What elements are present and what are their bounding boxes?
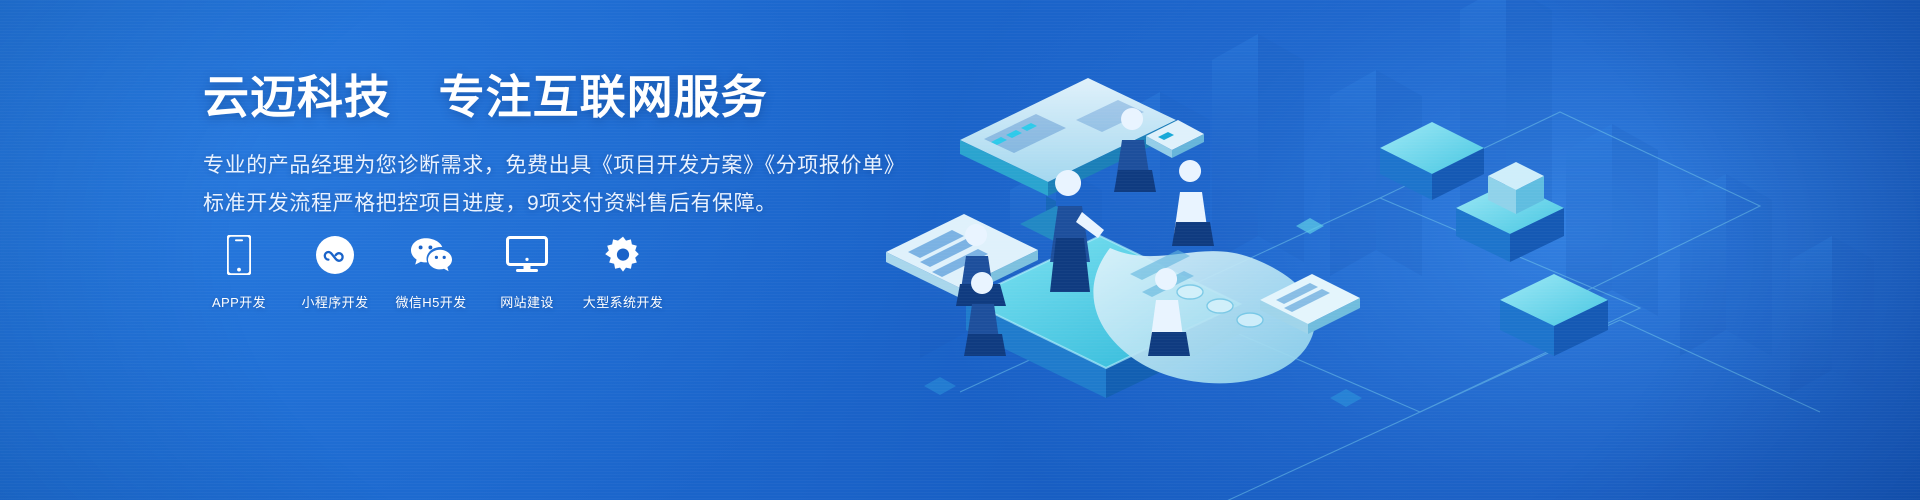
promo-banner: 云迈科技 专注互联网服务 专业的产品经理为您诊断需求，免费出具《项目开发方案》《…	[0, 0, 1920, 500]
headline-tagline: 专注互联网服务	[439, 71, 768, 123]
subtitle-line-1: 专业的产品经理为您诊断需求，免费出具《项目开发方案》《分项报价单》	[203, 148, 923, 183]
service-item-app[interactable]: APP开发	[203, 232, 275, 311]
monitor-icon	[506, 232, 548, 278]
service-label: APP开发	[212, 292, 266, 311]
service-item-large-system[interactable]: 大型系统开发	[587, 232, 659, 311]
mobile-phone-icon	[227, 232, 251, 278]
gear-icon	[603, 232, 643, 278]
service-label: 网站建设	[500, 292, 554, 311]
service-item-wechat-h5[interactable]: 微信H5开发	[395, 232, 467, 311]
subtitle-line-2: 标准开发流程严格把控项目进度，9项交付资料售后有保障。	[203, 186, 923, 221]
page-title: 云迈科技 专注互联网服务	[203, 70, 923, 124]
mini-program-icon	[316, 232, 354, 278]
service-label: 大型系统开发	[583, 292, 663, 311]
service-label: 微信H5开发	[395, 292, 466, 311]
headline-brand: 云迈科技	[203, 71, 391, 123]
service-item-website[interactable]: 网站建设	[491, 232, 563, 311]
service-label: 小程序开发	[301, 292, 368, 311]
banner-subtitle: 专业的产品经理为您诊断需求，免费出具《项目开发方案》《分项报价单》 标准开发流程…	[203, 148, 923, 221]
isometric-illustration	[860, 0, 1920, 500]
service-item-miniprogram[interactable]: 小程序开发	[299, 232, 371, 311]
wechat-icon	[409, 232, 453, 278]
service-list: APP开发 小程序开发 微信	[203, 232, 659, 311]
banner-copy: 云迈科技 专注互联网服务 专业的产品经理为您诊断需求，免费出具《项目开发方案》《…	[203, 70, 923, 221]
